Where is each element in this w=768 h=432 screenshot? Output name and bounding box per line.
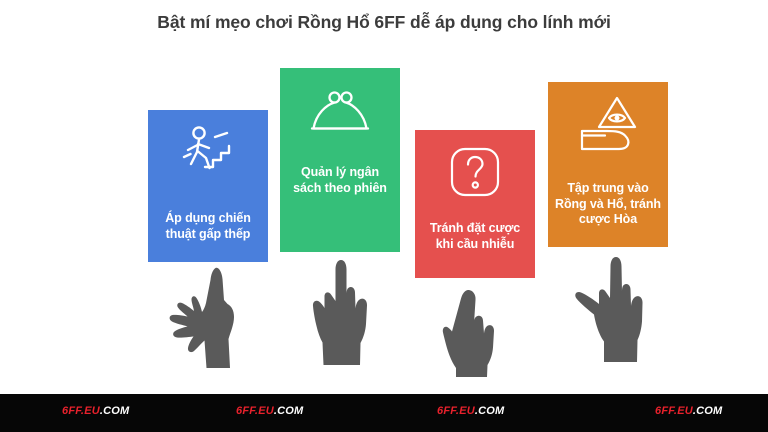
card-avoid-bet-label: Tránh đặt cược khi cầu nhiễu (415, 221, 535, 252)
page-title: Bật mí mẹo chơi Rồng Hổ 6FF dễ áp dụng c… (0, 10, 768, 34)
watermark: 6FF.EU.COM (62, 405, 129, 417)
watermark: 6FF.EU.COM (437, 405, 504, 417)
watermark: 6FF.EU.COM (655, 405, 722, 417)
watermark-tld: .COM (475, 405, 505, 417)
pointing-hand-icon (168, 266, 242, 369)
watermark-brand: 6FF.EU (236, 405, 274, 417)
watermark-tld: .COM (100, 405, 130, 417)
card-budget: Quản lý ngân sách theo phiên (280, 68, 400, 252)
watermark-brand: 6FF.EU (655, 405, 693, 417)
pointing-hand-icon (310, 258, 370, 366)
watermark: 6FF.EU.COM (236, 405, 303, 417)
watermark-brand: 6FF.EU (62, 405, 100, 417)
card-strategy: Áp dụng chiến thuật gấp thếp (148, 110, 268, 262)
card-focus-label: Tập trung vào Rồng và Hổ, tránh cược Hòa (548, 181, 668, 228)
card-strategy-label: Áp dụng chiến thuật gấp thếp (148, 211, 268, 242)
infographic-canvas: Bật mí mẹo chơi Rồng Hổ 6FF dễ áp dụng c… (0, 0, 768, 432)
watermark-tld: .COM (274, 405, 304, 417)
card-budget-label: Quản lý ngân sách theo phiên (280, 165, 400, 196)
watermark-brand: 6FF.EU (437, 405, 475, 417)
pointing-hand-icon (573, 255, 645, 363)
footer-watermark-bar: 6FF.EU.COM 6FF.EU.COM 6FF.EU.COM 6FF.EU.… (0, 394, 768, 432)
question-mark-square-icon (449, 146, 501, 203)
person-climbing-stairs-icon (177, 124, 239, 187)
coin-purse-icon (306, 90, 374, 145)
watermark-tld: .COM (693, 405, 723, 417)
card-avoid-bet: Tránh đặt cược khi cầu nhiễu (415, 130, 535, 278)
pointing-hand-icon (440, 288, 498, 378)
card-focus: Tập trung vào Rồng và Hổ, tránh cược Hòa (548, 82, 668, 247)
eye-of-providence-icon (573, 94, 643, 161)
